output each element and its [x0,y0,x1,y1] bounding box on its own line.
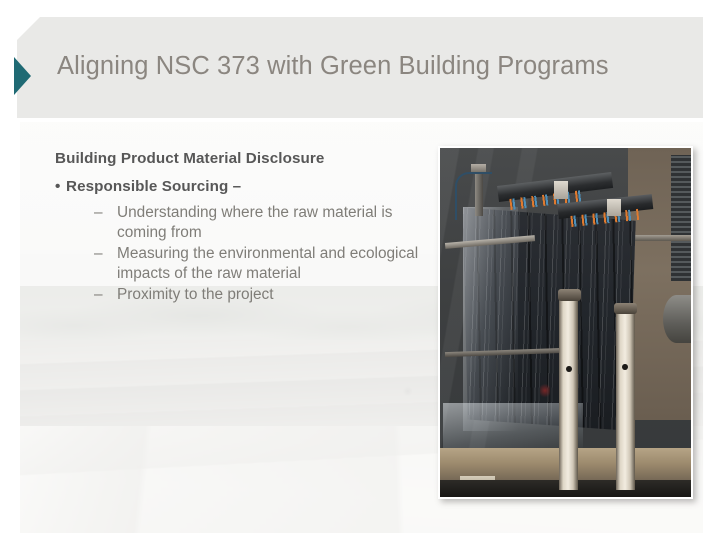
photo-wooden-prop-right [616,309,635,490]
slide-photo [438,146,693,499]
arrow-right-icon [14,57,31,95]
photo-prop-head-left [558,289,581,300]
photo-prop-hole-left [566,366,572,372]
photo-prop-head-right [614,303,637,314]
photo-red-marking [540,382,550,399]
photo-roller [663,295,691,344]
content-heading: Building Product Material Disclosure [55,150,430,167]
bullet-label: Responsible Sourcing – [66,178,241,195]
granite-washing-photo [440,148,691,497]
photo-blue-hose [455,172,492,219]
dash-marker-icon: – [94,244,117,284]
dash-marker-icon: – [94,285,117,305]
bullet-responsible-sourcing: • Responsible Sourcing – [55,178,430,195]
content-body: Building Product Material Disclosure • R… [55,150,430,306]
photo-wooden-prop-left [559,295,578,490]
list-item-label: Proximity to the project [117,285,430,305]
presentation-slide: Aligning NSC 373 with Green Building Pro… [0,0,720,540]
list-item: – Measuring the environmental and ecolog… [55,244,430,284]
list-item: – Understanding where the raw material i… [55,203,430,243]
list-item-label: Measuring the environmental and ecologic… [117,244,430,284]
photo-rail-right [626,235,691,241]
dash-marker-icon: – [94,203,117,243]
page-title: Aligning NSC 373 with Green Building Pro… [57,52,677,81]
list-item: – Proximity to the project [55,285,430,305]
photo-valve-box-left [554,181,568,198]
photo-valve-box-right [607,199,621,216]
list-item-label: Understanding where the raw material is … [117,203,430,243]
bullet-marker-icon: • [55,178,66,195]
photo-grate [671,155,691,281]
